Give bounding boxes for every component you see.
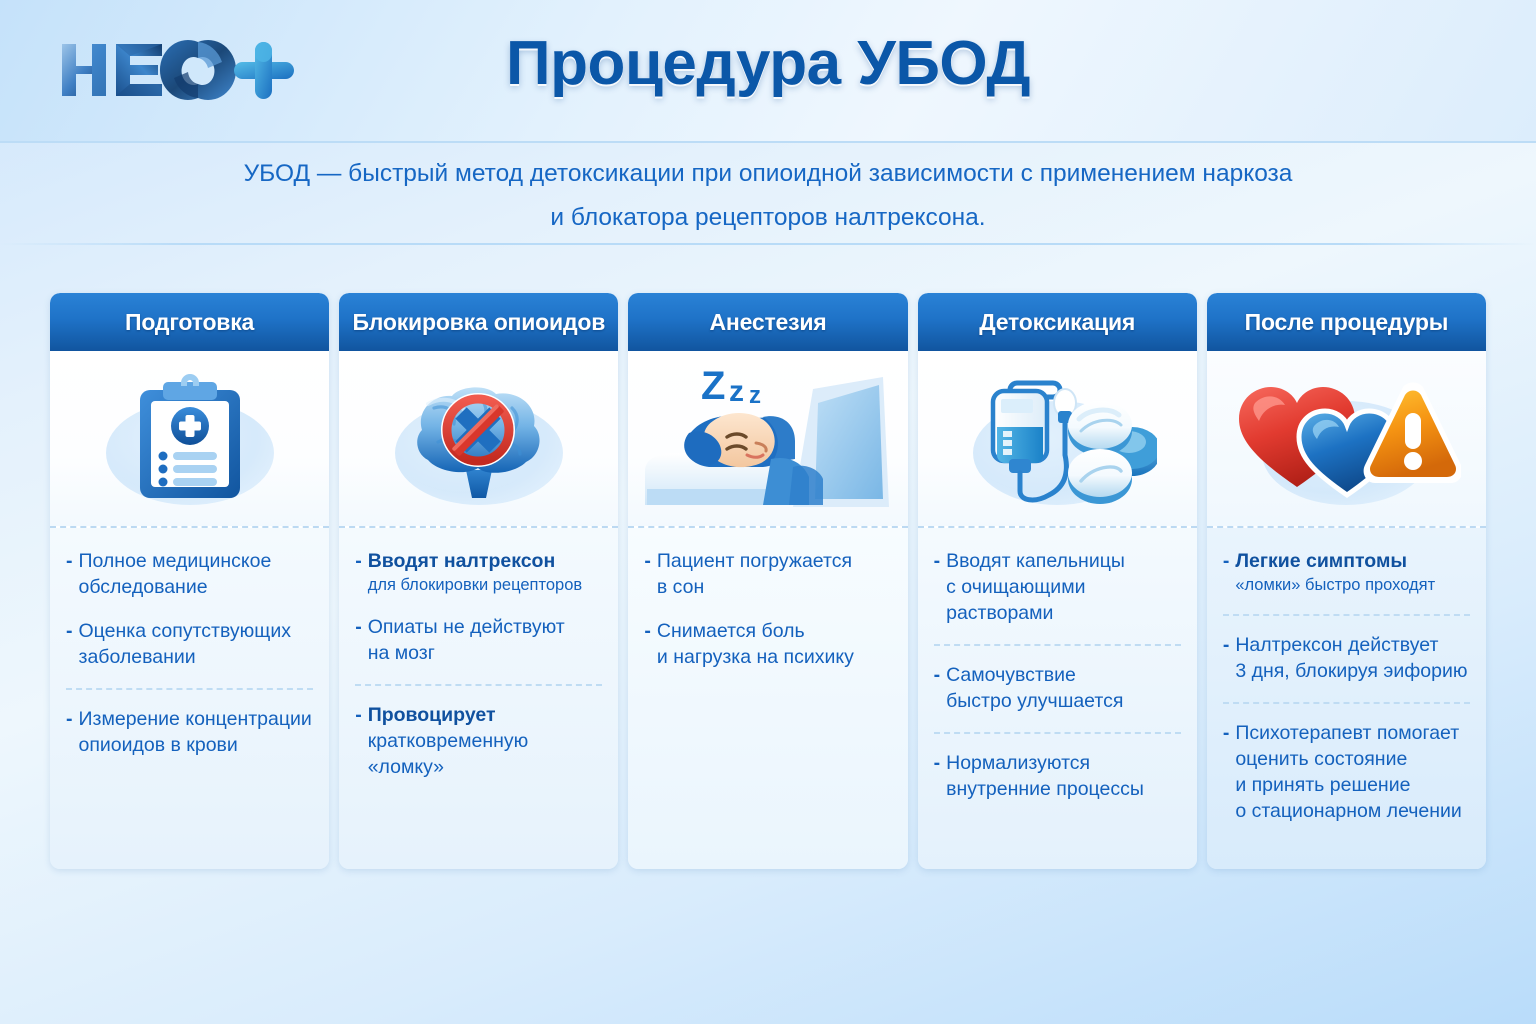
bullet-dash: - [644,548,651,600]
card-title-preparation: Подготовка [50,293,329,351]
bullet-dash: - [355,548,362,596]
steps-container: Подготовка [50,293,1486,869]
list-item-text: Полное медицинское обследование [79,548,314,600]
list-item: - Провоцирует кратковременную «ломку» [355,702,602,780]
card-title-opioid-blocking: Блокировка опиоидов [339,293,618,351]
header-divider [0,243,1536,245]
list-item: - Легкие симптомы «ломки» быстро проходя… [1223,548,1470,596]
bullet-dash: - [934,548,941,626]
list-item: - Оценка сопутствующих заболевании [66,618,313,670]
list-item-text: Оценка сопутствующих заболевании [79,618,314,670]
sleeping-patient-icon: Z z z [628,351,907,528]
card-title-after-procedure: После процедуры [1207,293,1486,351]
card-body-anesthesia: - Пациент погружается в сон - Снимается … [628,528,907,869]
card-title-detoxification: Детоксикация [918,293,1197,351]
infographic-page: Процедура УБОД УБОД — быстрый метод дето… [0,0,1536,1024]
svg-text:z: z [749,382,761,409]
step-card-anesthesia[interactable]: Анестезия [628,293,907,869]
bullet-dash: - [644,618,651,670]
bullet-dash: - [66,548,73,600]
page-header: Процедура УБОД [0,0,1536,143]
bullet-dash: - [1223,720,1230,824]
list-item-text: Провоцирует кратковременную «ломку» [368,702,603,780]
bullet-dash: - [355,614,362,666]
item-separator [66,688,313,690]
item-separator [1223,702,1470,704]
subtitle-line-2: и блокатора рецепторов налтрексона. [0,196,1536,240]
list-item: - Измерение концентрации опиоидов в кров… [66,706,313,758]
list-item-text: Налтрексон действует 3 дня, блокируя эиф… [1235,632,1470,684]
step-card-detoxification[interactable]: Детоксикация [918,293,1197,869]
list-item-text: Вводят капельницы с очищающими растворам… [946,548,1181,626]
svg-text:z: z [729,375,744,408]
list-item: - Пациент погружается в сон [644,548,891,600]
bullet-dash: - [934,750,941,802]
page-title: Процедура УБОД [0,28,1536,99]
item-separator [1223,614,1470,616]
hearts-warning-icon [1207,351,1486,528]
page-subtitle: УБОД — быстрый метод детоксикации при оп… [0,152,1536,240]
brain-no-entry-icon [339,351,618,528]
subtitle-line-1: УБОД — быстрый метод детоксикации при оп… [0,152,1536,196]
list-item-text: Легкие симптомы «ломки» быстро проходят [1235,548,1470,596]
list-item-text: Нормализуются внутренние процессы [946,750,1181,802]
item-separator [355,684,602,686]
step-card-opioid-blocking[interactable]: Блокировка опиоидов [339,293,618,869]
card-title-anesthesia: Анестезия [628,293,907,351]
zzz-label: Z [701,364,725,408]
card-body-opioid-blocking: - Вводят налтрексон для блокировки рецеп… [339,528,618,869]
list-item-text: Измерение концентрации опиоидов в крови [79,706,314,758]
list-item-text: Пациент погружается в сон [657,548,892,600]
list-item-text: Самочувствие быстро улучшается [946,662,1181,714]
list-item: - Вводят капельницы с очищающими раствор… [934,548,1181,626]
list-item: - Снимается боль и нагрузка на психику [644,618,891,670]
list-item: - Налтрексон действует 3 дня, блокируя э… [1223,632,1470,684]
list-item-text: Опиаты не действуют на мозг [368,614,603,666]
list-item: - Нормализуются внутренние процессы [934,750,1181,802]
list-item-text: Вводят налтрексон для блокировки рецепто… [368,548,603,596]
step-card-after-procedure[interactable]: После процедуры [1207,293,1486,869]
item-separator [934,644,1181,646]
bullet-dash: - [355,702,362,780]
bullet-dash: - [1223,632,1230,684]
iv-drip-pills-icon [918,351,1197,528]
list-item: - Психотерапевт помогает оценить состоян… [1223,720,1470,824]
card-body-preparation: - Полное медицинское обследование - Оцен… [50,528,329,869]
list-item: - Опиаты не действуют на мозг [355,614,602,666]
list-item: - Самочувствие быстро улучшается [934,662,1181,714]
list-item-text: Снимается боль и нагрузка на психику [657,618,892,670]
bullet-dash: - [66,706,73,758]
list-item: - Вводят налтрексон для блокировки рецеп… [355,548,602,596]
bullet-dash: - [1223,548,1230,596]
bullet-dash: - [934,662,941,714]
list-item: - Полное медицинское обследование [66,548,313,600]
item-separator [934,732,1181,734]
clipboard-medical-icon [50,351,329,528]
card-body-detoxification: - Вводят капельницы с очищающими раствор… [918,528,1197,869]
card-body-after-procedure: - Легкие симптомы «ломки» быстро проходя… [1207,528,1486,869]
step-card-preparation[interactable]: Подготовка [50,293,329,869]
bullet-dash: - [66,618,73,670]
list-item-text: Психотерапевт помогает оценить состояние… [1235,720,1470,824]
